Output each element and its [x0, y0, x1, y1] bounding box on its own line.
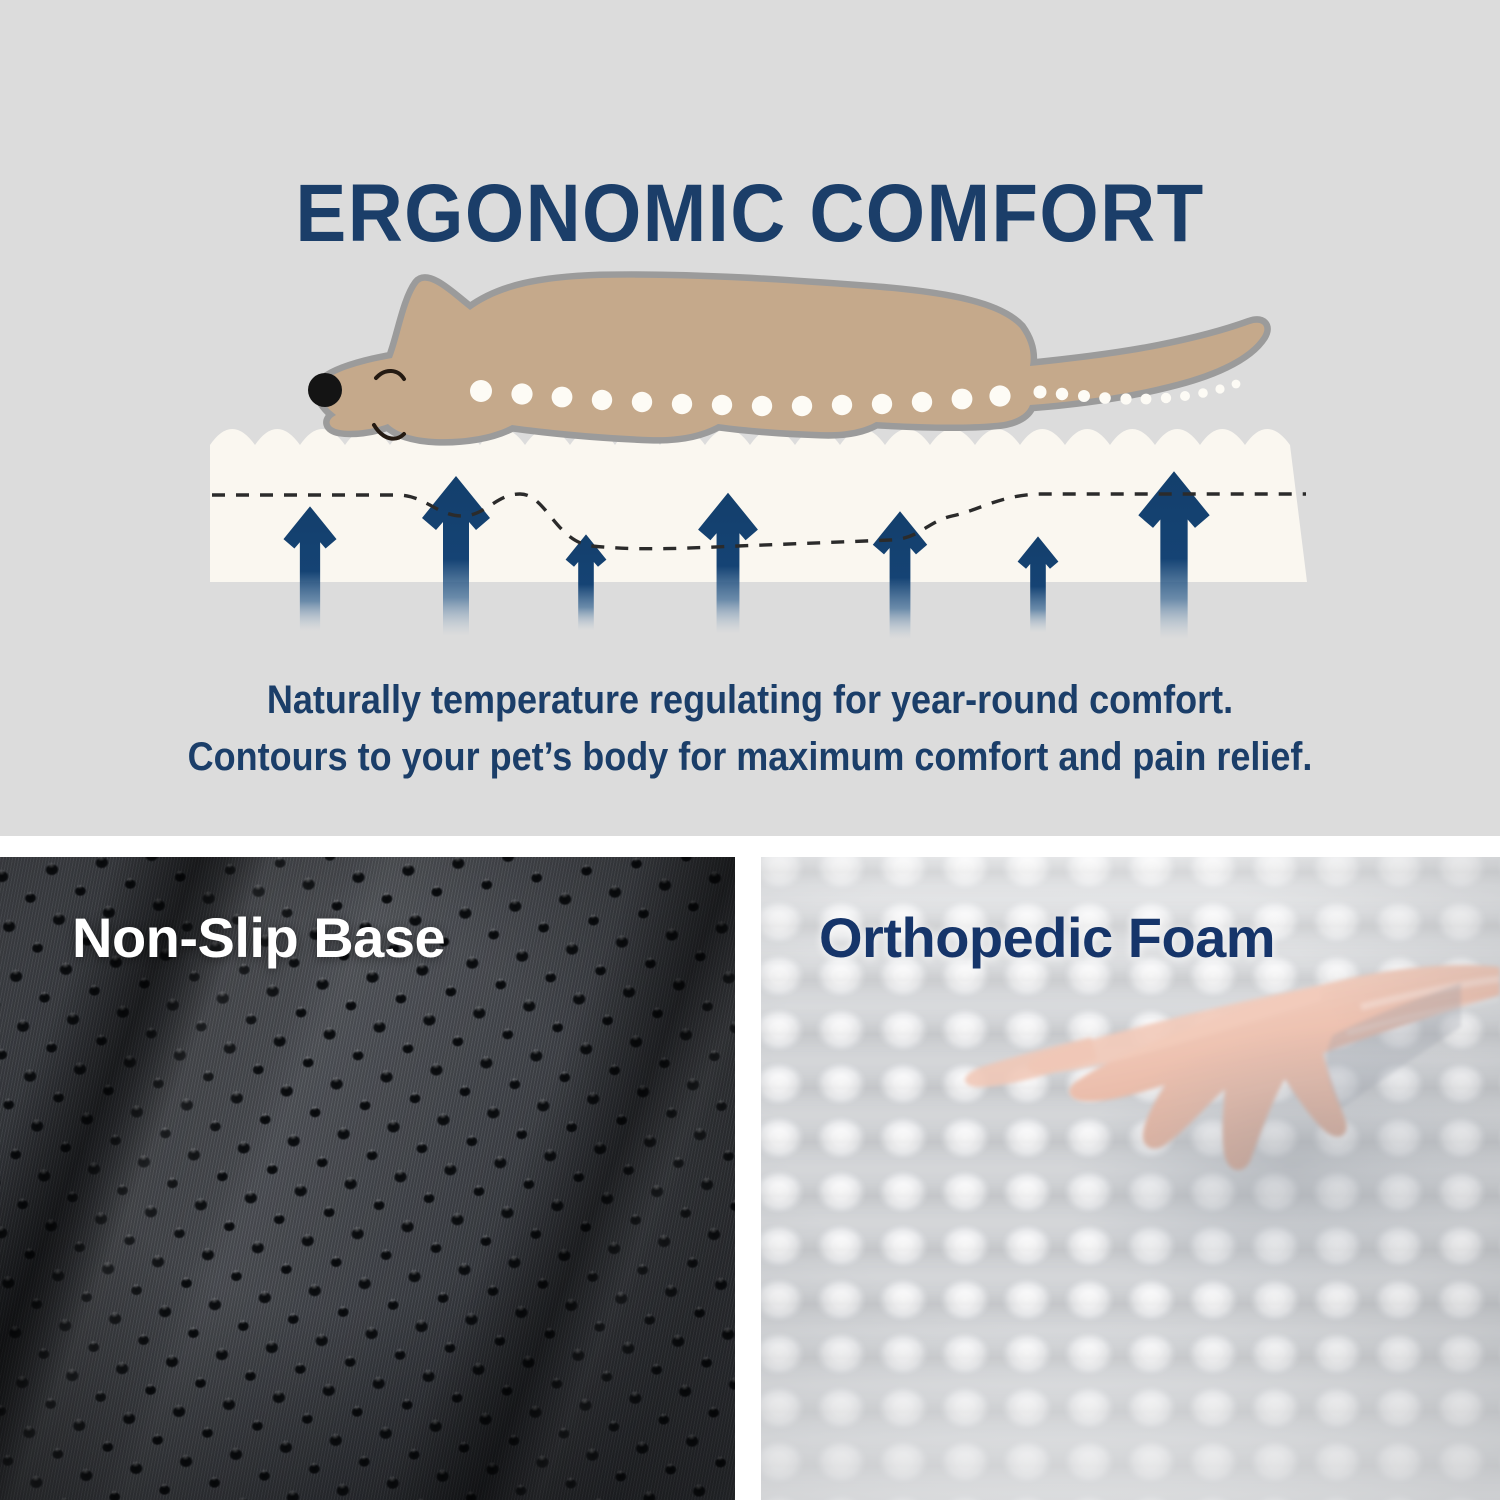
foam-mattress-block [210, 429, 1307, 582]
panel-label-non-slip-base: Non-Slip Base [72, 905, 445, 970]
sleeping-dog-illustration [308, 278, 1264, 439]
caption-line-1: Naturally temperature regulating for yea… [75, 672, 1425, 729]
ergonomic-support-illustration [0, 250, 1500, 670]
panel-label-orthopedic-foam: Orthopedic Foam [819, 905, 1275, 970]
feature-panel-orthopedic-foam: Orthopedic Foam [761, 857, 1500, 1500]
product-infographic: ERGONOMIC COMFORT [0, 0, 1500, 1500]
hero-caption: Naturally temperature regulating for yea… [75, 672, 1425, 786]
page-title: ERGONOMIC COMFORT [53, 173, 1448, 255]
feature-panel-non-slip-base: Non-Slip Base [0, 857, 735, 1500]
dog-nose [308, 373, 342, 407]
hero-panel: ERGONOMIC COMFORT [0, 0, 1500, 836]
caption-line-2: Contours to your pet’s body for maximum … [75, 729, 1425, 786]
